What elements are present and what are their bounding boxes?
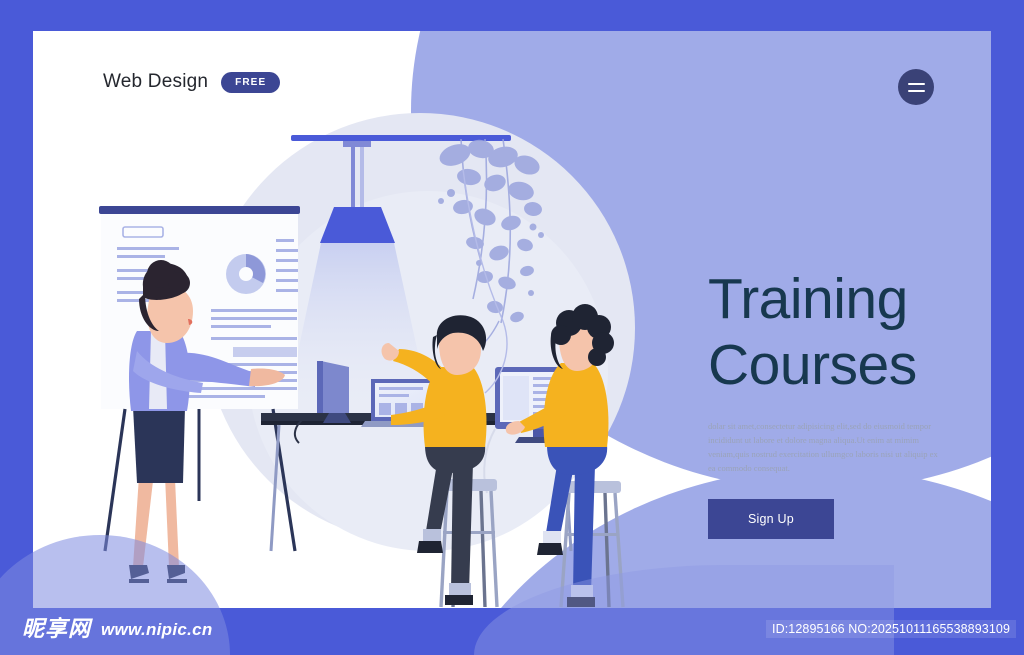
seated-person-right (506, 304, 623, 607)
brand: Web Design FREE (103, 71, 280, 93)
watermark-footer: 昵享网 www.nipic.cn ID:12895166 NO:20251011… (0, 609, 1024, 655)
seated-person-left (382, 315, 497, 607)
hero-section: Training Courses dolar sit amet,consecte… (708, 266, 973, 539)
status-badge: FREE (221, 72, 280, 93)
landing-card: Web Design FREE (33, 31, 991, 608)
hamburger-icon-line-1 (908, 83, 925, 85)
watermark-logo-text: 昵享网 (22, 618, 91, 640)
watermark-url: www.nipic.cn (101, 621, 213, 638)
hamburger-icon-line-2 (908, 90, 925, 92)
hero-heading-line-1: Training (708, 267, 908, 331)
watermark: 昵享网 www.nipic.cn (22, 618, 213, 640)
page-root: Web Design FREE (0, 0, 1024, 655)
page-title: Web Design (103, 71, 208, 93)
hero-heading: Training Courses (708, 266, 973, 398)
watermark-id-text: ID:12895166 NO:20251011165538893109 (766, 620, 1016, 638)
sign-up-button[interactable]: Sign Up (708, 499, 834, 539)
hamburger-menu-button[interactable] (898, 69, 934, 105)
hero-paragraph: dolar sit amet,consectetur adipisicing e… (708, 420, 940, 475)
hero-heading-line-2: Courses (708, 333, 917, 397)
pie-chart (226, 254, 266, 294)
